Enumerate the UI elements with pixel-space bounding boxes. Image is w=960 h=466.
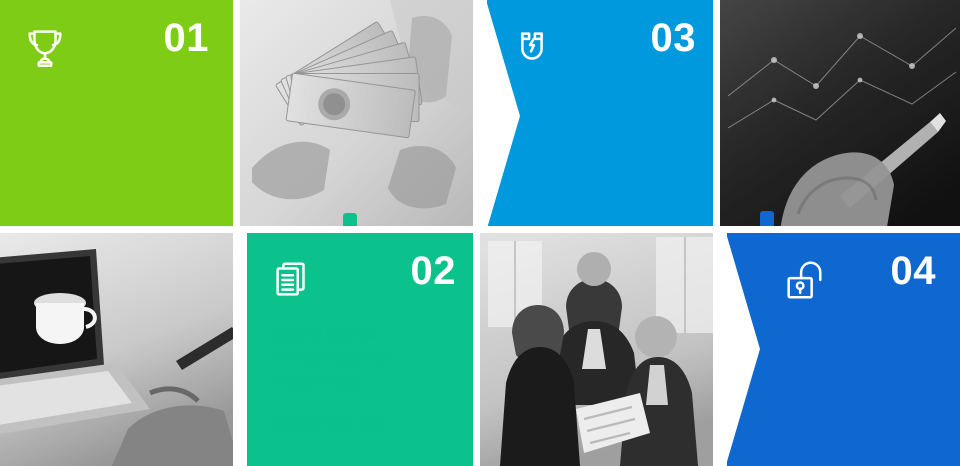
- step-04-number-block: 04: [891, 251, 937, 291]
- step-02-main-text: 인도주의 프로젝트 (Private Placement Program 포함): [269, 325, 460, 395]
- photo-hand-pen-chart: [720, 0, 960, 233]
- step-03-number-block: 03: [651, 18, 697, 58]
- step-04-cell: 04 글로벌 기업 금융 (인프라/부동산/ 기업 구조조정 및 성장전략등): [720, 233, 960, 466]
- documents-icon: [269, 257, 315, 303]
- step-01-main-text: 공공–민간 합동 파트너쉽 (PPP) 에 기반한 글로벌 금융 및 투자: [22, 92, 213, 162]
- step-03-sub-text: 재무 분석 및 금융 투자 구조화등: [509, 159, 700, 206]
- step-04-number: 04: [891, 249, 937, 293]
- unlocked-padlock-icon: [781, 257, 827, 303]
- photo-hand-pen-chart-cell: [720, 0, 960, 233]
- photo-business-team: [480, 233, 720, 466]
- step-02-panel[interactable]: 02 인도주의 프로젝트 (Private Placement Program …: [247, 233, 480, 466]
- photo-money-fan-cell: [240, 0, 480, 233]
- step-01-panel[interactable]: 01 공공–민간 합동 파트너쉽 (PPP) 에 기반한 글로벌 금융 및 투자…: [0, 0, 233, 233]
- step-01-sub-text: 자산 유동화 (ABS): [22, 182, 213, 205]
- step-03-main-text: 해외 도시 개발 경제, 금융, 부동산 및 기업 분석: [509, 92, 700, 139]
- step-01-number: 01: [164, 16, 210, 60]
- step-03-cell: 03 해외 도시 개발 경제, 금융, 부동산 및 기업 분석 재무 분석 및 …: [480, 0, 720, 233]
- step-02-header: 02: [269, 255, 460, 325]
- step-03-number: 03: [651, 16, 697, 60]
- step-04-header: 04: [749, 255, 940, 325]
- photo-money-fan: [240, 0, 480, 233]
- step-02-sub-text: 프라이빗 뱅킹 전략: [269, 415, 460, 438]
- step-01-cell: 01 공공–민간 합동 파트너쉽 (PPP) 에 기반한 글로벌 금융 및 투자…: [0, 0, 240, 233]
- step-02-cell: 02 인도주의 프로젝트 (Private Placement Program …: [240, 233, 480, 466]
- photo-business-team-cell: [480, 233, 720, 466]
- magnet-icon: [509, 24, 555, 70]
- step-02-number-block: 02: [411, 251, 457, 291]
- step-04-main-text: 글로벌 기업 금융 (인프라/부동산/ 기업 구조조정 및 성장전략등): [749, 325, 940, 419]
- step-03-header: 03: [509, 22, 700, 92]
- step-03-panel[interactable]: 03 해외 도시 개발 경제, 금융, 부동산 및 기업 분석 재무 분석 및 …: [487, 0, 720, 233]
- trophy-icon: [22, 24, 68, 70]
- step-04-tab-up: [760, 211, 774, 241]
- step-01-header: 01: [22, 22, 213, 92]
- step-04-panel[interactable]: 04 글로벌 기업 금융 (인프라/부동산/ 기업 구조조정 및 성장전략등): [727, 233, 960, 466]
- step-02-number: 02: [411, 249, 457, 293]
- infographic-root: 01 공공–민간 합동 파트너쉽 (PPP) 에 기반한 글로벌 금융 및 투자…: [0, 0, 960, 466]
- photo-laptop-desk-cell: [0, 233, 240, 466]
- step-01-number-block: 01: [164, 18, 210, 58]
- photo-laptop-desk: [0, 233, 240, 466]
